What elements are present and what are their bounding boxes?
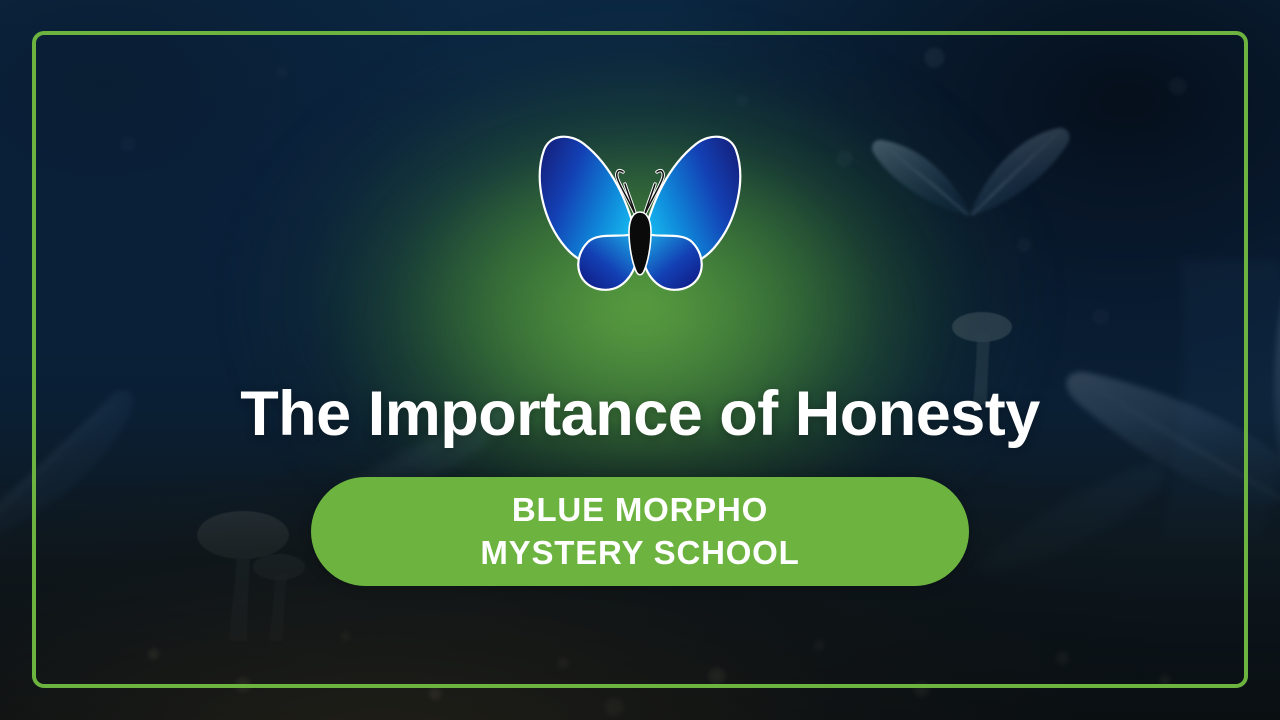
butterfly-logo (532, 128, 748, 294)
page-title: The Importance of Honesty (0, 381, 1280, 447)
blue-morpho-mystery-school-button[interactable]: Blue Morpho Mystery School (311, 477, 969, 586)
cta-line-1: Blue Morpho (512, 489, 768, 531)
presentation-slide: The Importance of Honesty Blue Morpho My… (0, 0, 1280, 720)
butterfly-icon (532, 128, 748, 294)
slide-content: The Importance of Honesty Blue Morpho My… (0, 0, 1280, 720)
cta-line-2: Mystery School (480, 532, 799, 574)
